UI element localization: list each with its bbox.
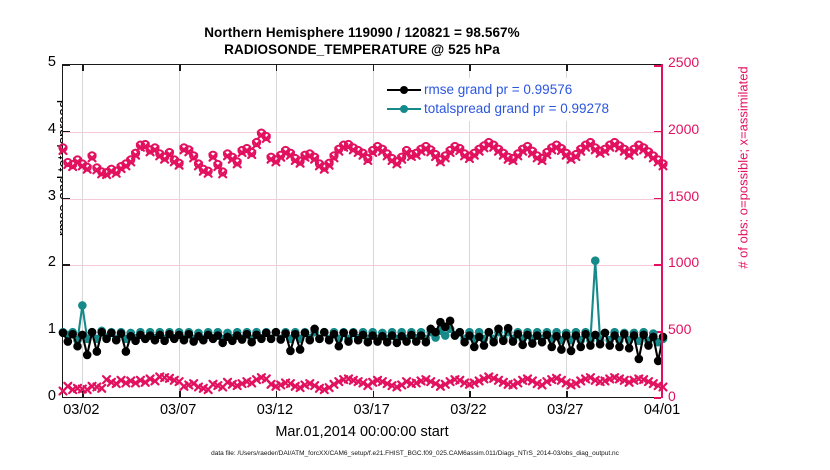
chart-title: Northern Hemisphere 119090 / 120821 = 98…: [62, 24, 662, 59]
data-point: [494, 325, 502, 333]
data-point: [446, 317, 454, 325]
data-point: [349, 329, 357, 337]
data-point: [78, 331, 86, 339]
x-tick-label: 03/27: [533, 402, 597, 418]
title-line-1: Northern Hemisphere 119090 / 120821 = 98…: [62, 24, 662, 41]
data-point: [98, 328, 106, 336]
data-point: [557, 346, 565, 354]
data-point: [330, 330, 338, 338]
series-obs-assimilated: [60, 132, 667, 178]
data-point: [432, 328, 440, 336]
data-point: [490, 338, 498, 346]
data-point: [553, 332, 561, 340]
data-point: [611, 332, 619, 340]
legend-dot: [400, 86, 408, 94]
x-axis-label: Mar.01,2014 00:00:00 start: [62, 424, 662, 440]
x-tick-label: 03/17: [340, 402, 404, 418]
data-point: [533, 332, 541, 340]
data-point: [286, 347, 294, 355]
data-point: [335, 342, 343, 350]
data-point: [441, 332, 449, 340]
figure-root: Northern Hemisphere 119090 / 120821 = 98…: [0, 0, 830, 470]
data-point: [59, 329, 67, 337]
data-point: [509, 338, 517, 346]
legend-item-totalspread[interactable]: totalspread grand pr = 0.99278: [387, 99, 654, 118]
data-point: [388, 332, 396, 340]
data-point: [562, 332, 570, 340]
data-point: [577, 343, 585, 351]
y-tick-label-left: 2: [36, 254, 56, 270]
data-point: [591, 331, 599, 339]
data-point: [475, 333, 483, 341]
data-point: [320, 328, 328, 336]
data-point: [122, 348, 130, 356]
data-point: [296, 346, 304, 354]
chart-legend[interactable]: rmse grand pr = 0.99576totalspread grand…: [383, 78, 658, 121]
data-point: [635, 355, 643, 363]
right-axis-spine: [661, 64, 663, 398]
y-tick-label-left: 5: [36, 54, 56, 70]
data-point: [417, 332, 425, 340]
data-point: [586, 342, 594, 350]
legend-marker-totalspread-icon: [387, 102, 421, 116]
y-tick-label-left: 3: [36, 188, 56, 204]
data-point: [499, 337, 507, 345]
title-line-2: RADIOSONDE_TEMPERATURE @ 525 hPa: [62, 41, 662, 58]
data-point: [644, 342, 652, 350]
data-point: [185, 330, 193, 338]
data-point: [572, 332, 580, 340]
y-tick-label-left: 4: [36, 121, 56, 137]
data-point: [272, 328, 280, 336]
data-point: [393, 339, 401, 347]
data-point: [291, 330, 299, 338]
data-point: [524, 331, 532, 339]
legend-label: rmse grand pr = 0.99576: [424, 83, 572, 97]
data-point: [519, 341, 527, 349]
data-point: [301, 329, 309, 337]
x-tick-label: 03/12: [243, 402, 307, 418]
data-point: [403, 338, 411, 346]
data-point: [582, 330, 590, 338]
data-point: [267, 335, 275, 343]
data-point: [214, 332, 222, 340]
data-point: [344, 338, 352, 346]
y-tick-label-right: 1500: [668, 188, 712, 204]
data-point: [596, 340, 604, 348]
data-point: [248, 338, 256, 346]
y-tick-label-right: 1000: [668, 254, 712, 270]
data-point: [514, 330, 522, 338]
data-point: [407, 331, 415, 339]
data-point: [528, 340, 536, 348]
legend-item-rmse[interactable]: rmse grand pr = 0.99576: [387, 80, 654, 99]
x-tick-label: 03/02: [49, 402, 113, 418]
data-point: [69, 330, 77, 338]
data-point: [480, 342, 488, 350]
x-tick-label: 04/01: [630, 402, 694, 418]
y-axis-label-right: # of obs: o=possible; x=assimilated: [736, 18, 751, 318]
data-point: [485, 328, 493, 336]
data-point: [112, 336, 120, 344]
series-rmse: [59, 317, 667, 365]
data-point: [64, 338, 72, 346]
data-point: [543, 331, 551, 339]
data-point: [456, 328, 464, 336]
y-tick-label-left: 1: [36, 321, 56, 337]
data-point: [74, 342, 82, 350]
data-point: [383, 338, 391, 346]
data-point: [364, 338, 372, 346]
legend-dot: [400, 105, 408, 113]
y-tick-label-right: 2500: [668, 54, 712, 70]
data-point: [649, 333, 657, 341]
data-point: [422, 338, 430, 346]
data-file-note: data file: /Users/raeder/DAI/ATM_forcXX/…: [0, 450, 830, 457]
data-point: [359, 331, 367, 339]
data-point: [620, 330, 628, 338]
data-point: [591, 257, 599, 265]
x-tick-label: 03/07: [146, 402, 210, 418]
data-point: [548, 343, 556, 351]
data-point: [88, 328, 96, 336]
legend-label: totalspread grand pr = 0.99278: [424, 102, 609, 116]
y-tick-label-right: 2000: [668, 121, 712, 137]
data-point: [625, 344, 633, 352]
data-point: [107, 329, 115, 337]
data-point: [311, 325, 319, 333]
data-point: [78, 301, 86, 309]
series-obs-rejected: [60, 373, 667, 394]
data-point: [282, 330, 290, 338]
data-point: [161, 337, 169, 345]
data-point: [461, 338, 469, 346]
data-point: [538, 338, 546, 346]
data-point: [640, 331, 648, 339]
data-point: [615, 343, 623, 351]
data-point: [243, 330, 251, 338]
data-point: [601, 329, 609, 337]
data-point: [606, 342, 614, 350]
data-point: [340, 329, 348, 337]
data-point: [83, 351, 91, 359]
data-point: [93, 348, 101, 356]
data-point: [630, 332, 638, 340]
data-point: [315, 335, 323, 343]
x-tick-label: 03/22: [436, 402, 500, 418]
data-point: [470, 343, 478, 351]
y-tick-label-right: 500: [668, 321, 712, 337]
data-point: [117, 330, 125, 338]
legend-marker-rmse-icon: [387, 83, 421, 97]
data-point: [465, 332, 473, 340]
data-point: [306, 336, 314, 344]
data-point: [567, 347, 575, 355]
data-point: [504, 324, 512, 332]
